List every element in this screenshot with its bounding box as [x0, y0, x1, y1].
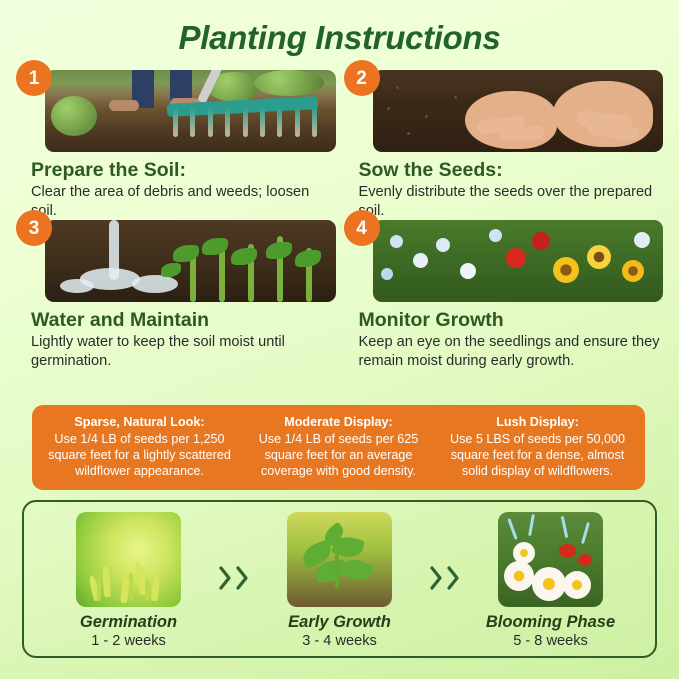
timeline-duration-blooming-phase: 5 - 8 weeks: [468, 633, 633, 649]
scene-monitor-growth: [373, 220, 664, 302]
timeline-photo-blooming-phase: [498, 512, 603, 607]
coverage-body-lush: Use 5 LBS of seeds per 50,000 square fee…: [444, 431, 631, 479]
chevron-right-icon: [218, 565, 233, 591]
step-photo-2: [373, 70, 664, 152]
page-title: Planting Instructions: [0, 0, 679, 54]
coverage-option-moderate: Moderate Display: Use 1/4 LB of seeds pe…: [239, 414, 438, 481]
coverage-title-sparse: Sparse, Natural Look:: [46, 414, 233, 430]
timeline-stage-blooming-phase: Blooming Phase 5 - 8 weeks: [468, 512, 633, 649]
timeline-name-germination: Germination: [46, 613, 211, 631]
timeline-stage-germination: Germination 1 - 2 weeks: [46, 512, 211, 649]
timeline-duration-early-growth: 3 - 4 weeks: [257, 633, 422, 649]
timeline-stage-early-growth: Early Growth 3 - 4 weeks: [257, 512, 422, 649]
timeline-photo-early-growth: [287, 512, 392, 607]
step-body-3: Lightly water to keep the soil moist unt…: [31, 333, 336, 371]
coverage-option-lush: Lush Display: Use 5 LBS of seeds per 50,…: [438, 414, 637, 481]
coverage-option-sparse: Sparse, Natural Look: Use 1/4 LB of seed…: [40, 414, 239, 481]
step-title-2: Sow the Seeds:: [359, 160, 664, 182]
growth-timeline-panel: Germination 1 - 2 weeks Early Growth: [22, 500, 657, 658]
step-body-2: Evenly distribute the seeds over the pre…: [359, 183, 664, 221]
double-chevron-right-icon-2: [429, 565, 461, 591]
timeline-name-blooming-phase: Blooming Phase: [468, 613, 633, 631]
step-card-2: 2 Sow the Seeds: Evenly distribute the s…: [344, 70, 664, 220]
step-card-1: 1 Prepare the Soil: Clear the area of de…: [16, 70, 336, 220]
coverage-title-moderate: Moderate Display:: [245, 414, 432, 430]
coverage-body-sparse: Use 1/4 LB of seeds per 1,250 square fee…: [46, 431, 233, 479]
step-card-3: 3 Water and Maintain Lightly water to ke…: [16, 220, 336, 370]
timeline-photo-germination: [76, 512, 181, 607]
step-photo-4: [373, 220, 664, 302]
step-photo-wrap-2: 2: [359, 70, 664, 152]
step-title-1: Prepare the Soil:: [31, 160, 336, 182]
timeline-duration-germination: 1 - 2 weeks: [46, 633, 211, 649]
steps-grid: 1 Prepare the Soil: Clear the area of de…: [0, 54, 679, 371]
coverage-body-moderate: Use 1/4 LB of seeds per 625 square feet …: [245, 431, 432, 479]
chevron-right-icon: [235, 565, 250, 591]
step-number-badge-2: 2: [344, 60, 380, 96]
step-card-4: 4 Monitor Growth Keep an eye on the seed…: [344, 220, 664, 370]
coverage-title-lush: Lush Display:: [444, 414, 631, 430]
scene-prepare-soil: [45, 70, 336, 152]
planting-instructions-infographic: Planting Instructions: [0, 0, 679, 679]
step-photo-wrap-3: 3: [31, 220, 336, 302]
seed-coverage-band: Sparse, Natural Look: Use 1/4 LB of seed…: [32, 405, 645, 490]
step-title-4: Monitor Growth: [359, 310, 664, 332]
step-body-4: Keep an eye on the seedlings and ensure …: [359, 333, 664, 371]
step-number-badge-1: 1: [16, 60, 52, 96]
step-photo-wrap-4: 4: [359, 220, 664, 302]
step-photo-3: [45, 220, 336, 302]
timeline-name-early-growth: Early Growth: [257, 613, 422, 631]
chevron-right-icon: [446, 565, 461, 591]
step-number-badge-4: 4: [344, 210, 380, 246]
step-photo-wrap-1: 1: [31, 70, 336, 152]
scene-sow-seeds: [373, 70, 664, 152]
chevron-right-icon: [429, 565, 444, 591]
step-body-1: Clear the area of debris and weeds; loos…: [31, 183, 336, 221]
double-chevron-right-icon-1: [218, 565, 250, 591]
scene-water-maintain: [45, 220, 336, 302]
step-title-3: Water and Maintain: [31, 310, 336, 332]
step-photo-1: [45, 70, 336, 152]
